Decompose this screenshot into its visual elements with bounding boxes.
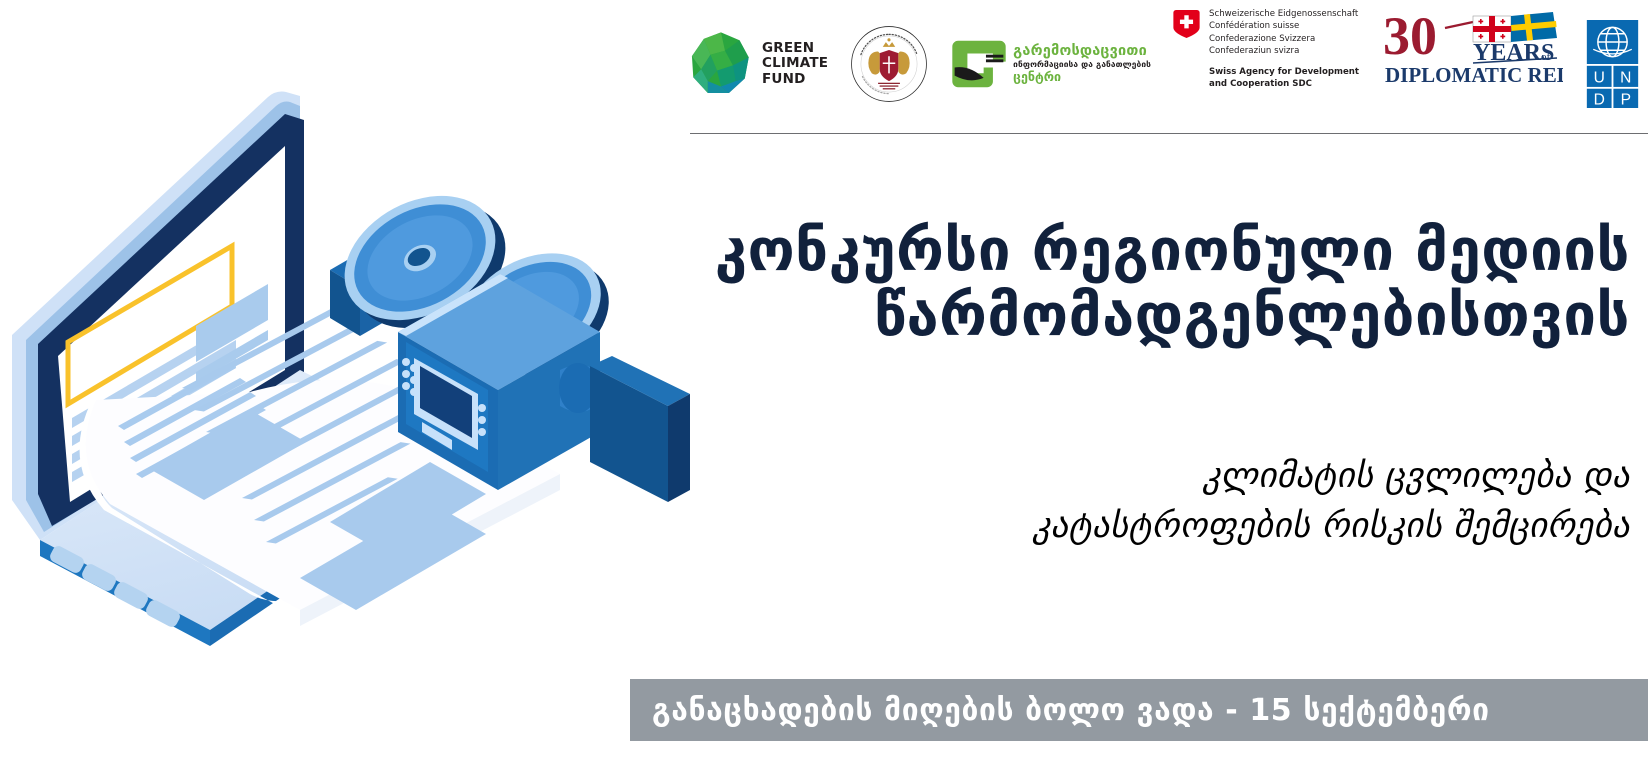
logo-30-years-diplomatic-relations: 30 bbox=[1381, 8, 1563, 120]
logo-georgia-environmental-agency bbox=[850, 8, 928, 120]
undp-icon: U N D P bbox=[1585, 18, 1640, 110]
eiec-leaf-icon bbox=[950, 35, 1008, 93]
sponsor-logo-bar: GREEN CLIMATE FUND bbox=[688, 8, 1640, 120]
deadline-banner: განაცხადების მიღების ბოლო ვადა - 15 სექტ… bbox=[630, 679, 1648, 741]
sdc-line-it: Confederazione Svizzera bbox=[1209, 33, 1359, 45]
sdc-line-en-2: and Cooperation SDC bbox=[1209, 78, 1359, 90]
illustration-laptop-newspaper-camera bbox=[0, 70, 690, 690]
dipl-relations-word: DIPLOMATIC RELATIONS bbox=[1385, 63, 1563, 86]
sdc-line-fr: Confédération suisse bbox=[1209, 20, 1359, 32]
page-subtitle: კლიმატის ცვლილება და კატასტროფების რისკი… bbox=[690, 452, 1630, 551]
dipl-of-word: of bbox=[1541, 51, 1551, 63]
logo-swiss-agency-sdc: Schweizerische Eidgenossenschaft Confédé… bbox=[1173, 8, 1359, 120]
undp-letter-p: P bbox=[1621, 91, 1631, 108]
undp-letter-n: N bbox=[1620, 69, 1631, 86]
dipl-30-number: 30 bbox=[1383, 8, 1437, 66]
green-climate-fund-icon bbox=[688, 31, 754, 97]
poster: GREEN CLIMATE FUND bbox=[0, 0, 1648, 768]
gcf-line-2: CLIMATE bbox=[762, 56, 828, 71]
sdc-line-en-1: Swiss Agency for Development bbox=[1209, 66, 1359, 78]
eiec-wordmark: გარემოსდაცვითი ინფორმაციისა და განათლები… bbox=[1013, 44, 1151, 83]
eiec-line-1: გარემოსდაცვითი bbox=[1013, 44, 1151, 59]
eiec-line-3: ცენტრი bbox=[1013, 70, 1151, 84]
header-divider bbox=[690, 133, 1648, 134]
sdc-wordmark: Schweizerische Eidgenossenschaft Confédé… bbox=[1209, 8, 1359, 91]
headline-line-2: წარმომადგენლებისთვის bbox=[690, 283, 1630, 348]
swiss-flag-icon bbox=[1173, 10, 1200, 38]
georgian-state-seal-icon bbox=[850, 25, 928, 103]
sdc-spacer bbox=[1209, 58, 1359, 66]
headline-line-1: კონკურსი რეგიონული მედიის bbox=[690, 218, 1630, 283]
sdc-line-rm: Confederaziun svizra bbox=[1209, 45, 1359, 57]
diplomatic-relations-icon: 30 bbox=[1381, 8, 1563, 86]
undp-letter-d: D bbox=[1594, 91, 1605, 108]
subtitle-line-2: კატასტროფების რისკის შემცირება bbox=[690, 502, 1630, 552]
undp-letter-u: U bbox=[1594, 69, 1605, 86]
subtitle-line-1: კლიმატის ცვლილება და bbox=[690, 452, 1630, 502]
logo-green-climate-fund: GREEN CLIMATE FUND bbox=[688, 8, 828, 120]
gcf-line-1: GREEN bbox=[762, 41, 828, 56]
logo-environmental-information-education-centre: გარემოსდაცვითი ინფორმაციისა და განათლები… bbox=[950, 8, 1151, 120]
gcf-line-3: FUND bbox=[762, 72, 828, 87]
logo-undp: U N D P bbox=[1585, 8, 1640, 120]
page-title: კონკურსი რეგიონული მედიის წარმომადგენლებ… bbox=[690, 218, 1630, 348]
green-climate-fund-wordmark: GREEN CLIMATE FUND bbox=[762, 41, 828, 86]
sdc-line-de: Schweizerische Eidgenossenschaft bbox=[1209, 8, 1359, 20]
deadline-text: განაცხადების მიღების ბოლო ვადა - 15 სექტ… bbox=[652, 693, 1490, 728]
